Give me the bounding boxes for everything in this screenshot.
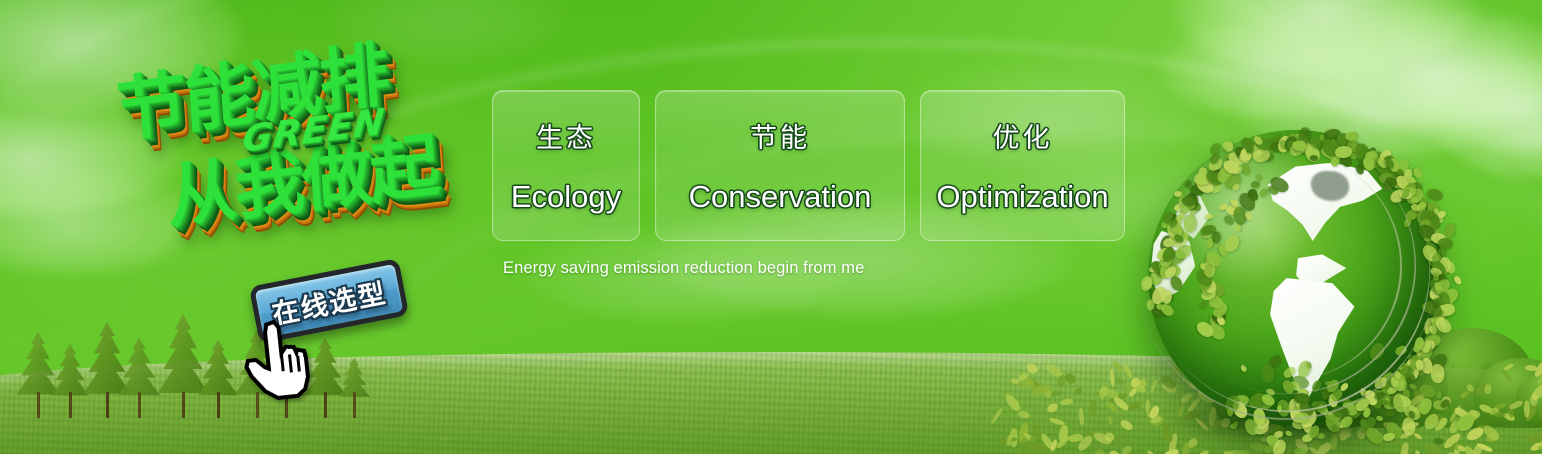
tree-trunk <box>353 392 356 418</box>
feature-card-optimization-cn: 优化 <box>993 116 1053 155</box>
leaf <box>1526 433 1542 444</box>
grass-speck <box>730 428 736 430</box>
grass-speck <box>283 419 286 421</box>
grass-speck <box>422 373 427 377</box>
leaf <box>1538 445 1542 451</box>
leaf <box>1492 411 1506 417</box>
leaf <box>1095 449 1106 454</box>
grass-speck <box>439 437 448 440</box>
leaf <box>1123 363 1133 379</box>
feature-card-ecology-cn: 生态 <box>536 116 596 155</box>
tree-trunk <box>217 392 220 418</box>
tree-trunk <box>106 392 109 418</box>
leaf <box>1509 399 1524 410</box>
leaf <box>1500 368 1514 384</box>
grass-speck <box>703 413 710 415</box>
tree-trunk <box>182 392 185 418</box>
grass-speck <box>475 430 479 433</box>
grass-speck <box>532 418 541 420</box>
feature-card-conservation-en: Conservation <box>689 179 872 215</box>
grass-speck <box>672 432 676 435</box>
leaf <box>990 408 1004 425</box>
tree-trunk <box>138 392 141 418</box>
leaf <box>1113 374 1126 387</box>
grass-speck <box>417 449 419 452</box>
tree-trunk <box>285 392 288 418</box>
grass-speck <box>485 403 492 407</box>
online-selection-button-label: 在线选型 <box>268 271 389 331</box>
tree-trunk <box>256 392 259 418</box>
ivy-leaf <box>1408 382 1417 391</box>
grass-speck <box>893 449 895 451</box>
leafy-globe-icon <box>1148 130 1444 426</box>
grass-speck <box>43 440 48 442</box>
leaf <box>1537 401 1542 418</box>
grass-speck <box>743 420 751 424</box>
grass-speck <box>685 370 690 374</box>
grass-speck <box>186 450 190 454</box>
ivy-leaf <box>1436 390 1444 399</box>
feature-card-ecology-en: Ecology <box>511 179 621 215</box>
grass-speck <box>495 436 501 437</box>
grass-speck <box>667 397 670 399</box>
tree-trunk <box>37 392 40 418</box>
leaf <box>1194 449 1211 454</box>
continent-grey-patch <box>1311 171 1349 201</box>
leaf <box>1108 450 1120 454</box>
leaf <box>1465 426 1485 442</box>
leaf <box>1004 391 1022 412</box>
green-energy-banner: 节能减排 GREEN 从我做起 在线选型 生态 Ecology 节能 Conse… <box>0 0 1542 454</box>
grass-speck <box>914 381 919 383</box>
grass-speck <box>972 411 975 415</box>
grass-speck <box>476 422 482 423</box>
leaf <box>1078 407 1085 426</box>
continent-south-america <box>1266 278 1358 408</box>
leaf <box>1073 386 1084 396</box>
grass-speck <box>720 374 728 376</box>
ivy-leaf <box>1433 208 1440 216</box>
grass-speck <box>790 395 795 398</box>
feature-card-optimization[interactable]: 优化 Optimization <box>920 90 1125 241</box>
grass-speck <box>92 423 99 424</box>
feature-card-ecology[interactable]: 生态 Ecology <box>492 90 640 241</box>
grass-speck <box>475 365 479 366</box>
tree-trunk <box>324 392 327 418</box>
grass-speck <box>804 382 808 385</box>
grass-speck <box>806 441 809 444</box>
grass-speck <box>591 433 600 435</box>
leaf <box>1017 409 1030 419</box>
grass-speck <box>628 398 633 402</box>
grass-speck <box>77 427 82 430</box>
leaf <box>1119 417 1134 432</box>
leaf <box>1120 445 1133 454</box>
grass-speck <box>568 387 573 390</box>
grass-speck <box>419 379 422 381</box>
grass-speck <box>19 428 26 431</box>
grass-speck <box>639 410 642 412</box>
grass-speck <box>780 376 788 380</box>
feature-card-conservation[interactable]: 节能 Conservation <box>655 90 905 241</box>
grass-speck <box>744 374 747 376</box>
leaf <box>1425 443 1442 454</box>
ivy-leaf <box>1421 358 1432 374</box>
tagline-text: Energy saving emission reduction begin f… <box>503 259 864 278</box>
grass-speck <box>583 372 585 373</box>
grass-speck <box>841 427 847 428</box>
grass-speck <box>945 421 952 425</box>
grass-speck <box>710 449 718 453</box>
feature-card-list: 生态 Ecology 节能 Conservation 优化 Optimizati… <box>492 90 1125 241</box>
grass-speck <box>537 376 541 379</box>
feature-card-optimization-en: Optimization <box>936 179 1108 215</box>
grass-speck <box>506 418 510 421</box>
grass-speck <box>502 378 507 381</box>
grass-speck <box>745 383 751 386</box>
ivy-leaf <box>1426 186 1445 203</box>
grass-speck <box>149 418 156 419</box>
leaf <box>1060 399 1073 407</box>
conifer-tree <box>332 358 376 418</box>
grass-speck <box>122 451 129 454</box>
globe-sphere <box>1148 130 1444 426</box>
continent-northwest-limb <box>1175 195 1211 242</box>
grass-speck <box>573 369 578 371</box>
leaf <box>1483 383 1492 394</box>
grass-speck <box>399 442 405 445</box>
ivy-leaf <box>1402 388 1411 399</box>
grass-speck <box>242 445 249 448</box>
grass-speck <box>933 398 940 400</box>
grass-speck <box>589 378 591 379</box>
grass-speck <box>195 423 199 426</box>
grass-speck <box>528 404 531 407</box>
ivy-leaf <box>1417 381 1438 400</box>
grass-speck <box>678 452 681 453</box>
continent-west-limb <box>1151 231 1195 305</box>
leaf <box>1128 401 1141 411</box>
grass-speck <box>666 368 669 370</box>
grass-speck <box>411 372 417 376</box>
grass-speck <box>929 384 935 386</box>
ivy-leaf <box>1412 166 1423 179</box>
grass-speck <box>761 435 768 436</box>
leaf <box>1108 416 1113 425</box>
ivy-leaf <box>1348 130 1359 139</box>
headline-artwork: 节能减排 GREEN 从我做起 <box>84 20 499 277</box>
ivy-leaf <box>1429 342 1438 350</box>
grass-speck <box>187 430 193 432</box>
grass-speck <box>938 370 941 371</box>
grass-speck <box>507 424 515 427</box>
leaf <box>1046 402 1059 413</box>
tree-trunk <box>69 392 72 418</box>
feature-card-conservation-cn: 节能 <box>750 116 810 155</box>
grass-speck <box>688 382 695 383</box>
leaf <box>1459 390 1470 399</box>
grass-speck <box>527 389 530 391</box>
ivy-leaf <box>1430 364 1446 384</box>
leaf <box>1146 449 1160 454</box>
leaf <box>1467 408 1481 419</box>
grass-speck <box>416 419 419 421</box>
grass-speck <box>817 439 820 442</box>
grass-speck <box>943 371 945 373</box>
leaf <box>1090 399 1099 415</box>
